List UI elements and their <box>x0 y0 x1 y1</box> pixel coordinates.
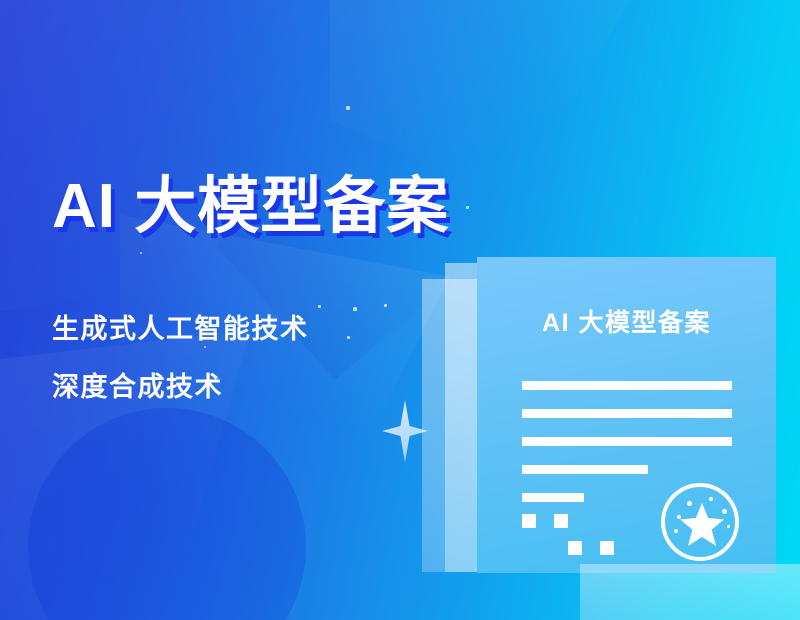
background-particle <box>384 304 387 307</box>
badge-sparkle-dot <box>674 529 678 533</box>
document-card-text-line <box>522 409 732 418</box>
badge-sparkle-dot <box>709 497 713 501</box>
background-particle <box>140 252 142 254</box>
background-particle <box>204 346 206 348</box>
subtitle-line-1: 生成式人工智能技术 <box>52 307 309 346</box>
badge-sparkle-dot <box>677 515 681 519</box>
document-card-text-line <box>522 381 732 390</box>
ai-model-filing-banner: AI 大模型备案 生成式人工智能技术 深度合成技术 AI 大模型备案 <box>0 0 800 620</box>
subtitle-line-2: 深度合成技术 <box>52 365 223 404</box>
document-card-text-line <box>522 493 584 502</box>
page-title: AI 大模型备案 <box>52 176 449 238</box>
document-card-block <box>554 514 568 528</box>
background-particle <box>346 106 350 110</box>
background-circle-decoration <box>28 408 306 620</box>
document-card-block <box>568 541 582 555</box>
background-facet-top-left <box>0 0 360 320</box>
background-particle <box>318 305 321 308</box>
bottom-highlight-band <box>580 564 800 620</box>
document-card-text-line <box>522 465 648 474</box>
document-card-text-line <box>522 437 732 446</box>
star-shape-icon <box>680 503 724 546</box>
background-particle <box>347 336 350 339</box>
badge-sparkle-dot <box>687 501 692 506</box>
badge-sparkle-dot <box>727 525 730 528</box>
badge-sparkle-dot <box>722 509 727 514</box>
star-badge-icon <box>661 483 739 561</box>
background-particle <box>466 206 469 209</box>
document-card-title: AI 大模型备案 <box>477 303 776 339</box>
background-particle <box>353 307 357 311</box>
document-card-block <box>522 514 536 528</box>
background-facet-top-right <box>330 0 630 200</box>
document-card-block <box>600 541 614 555</box>
